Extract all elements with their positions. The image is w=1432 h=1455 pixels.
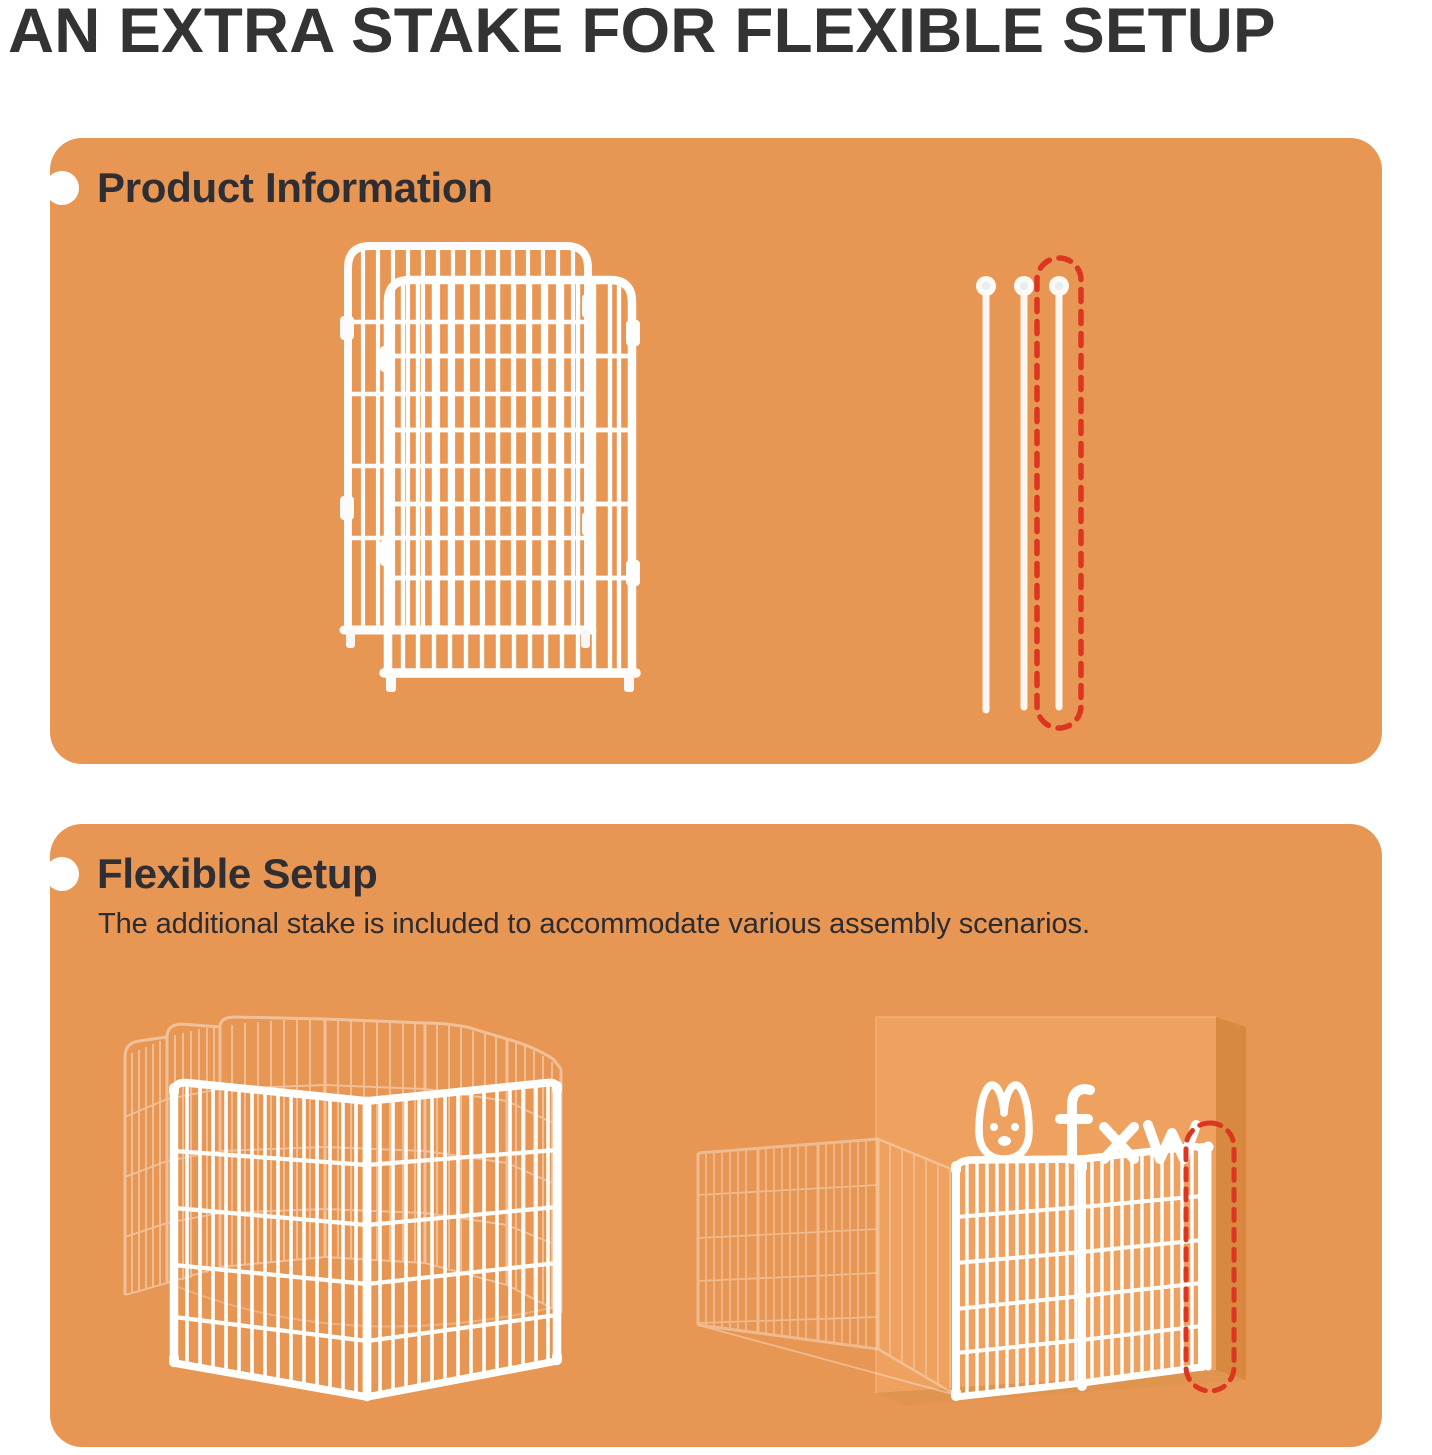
ground-stake-1	[976, 276, 996, 710]
flexible-setup-heading-row: Flexible Setup	[45, 852, 378, 896]
product-information-heading-row: Product Information	[45, 166, 493, 210]
ground-stake-2	[1014, 276, 1034, 707]
page-title: AN EXTRA STAKE FOR FLEXIBLE SETUP	[8, 0, 1432, 66]
ground-stake-3-highlighted	[1049, 276, 1069, 707]
fence-panels-pair-figure	[330, 230, 750, 730]
flexible-setup-heading: Flexible Setup	[97, 852, 378, 896]
white-dot-icon	[45, 857, 79, 891]
dog-nose	[998, 1136, 1011, 1146]
ground-stakes-figure	[955, 250, 1135, 740]
flexible-setup-subtitle: The additional stake is included to acco…	[98, 908, 1090, 941]
octagon-playpen-figure	[95, 995, 615, 1425]
product-information-heading: Product Information	[97, 166, 493, 210]
dog-eye-right	[1011, 1123, 1019, 1131]
dog-eye-left	[990, 1123, 998, 1131]
octagon-front-panel-right	[367, 1081, 562, 1397]
wall-mounted-pen-figure	[690, 995, 1340, 1425]
white-dot-icon	[45, 171, 79, 205]
